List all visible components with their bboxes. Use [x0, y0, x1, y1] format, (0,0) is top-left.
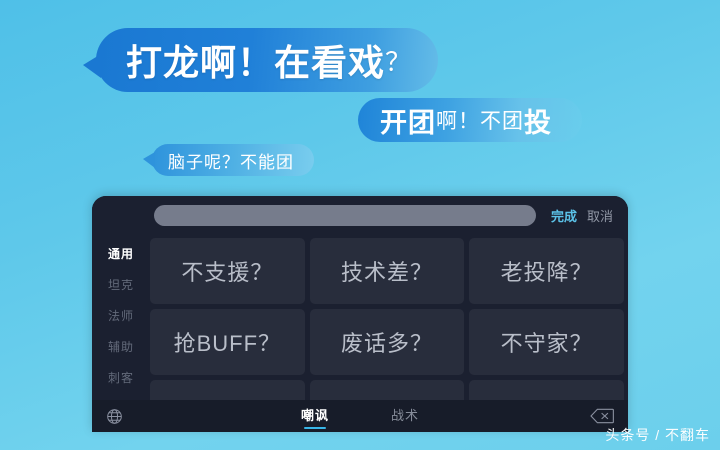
phrase-key-label: 老投降？ [501, 255, 593, 287]
speech-bubble-1-tail [83, 54, 101, 78]
tab-tactics[interactable]: 战术 [391, 405, 419, 428]
tab-taunt[interactable]: 嘲讽 [301, 405, 329, 428]
backspace-icon[interactable] [590, 408, 614, 424]
tab-label: 战术 [391, 408, 419, 423]
phrase-key[interactable]: 技术差？ [310, 238, 465, 304]
sidebar-item-label: 通用 [108, 245, 134, 262]
sidebar-item-label: 刺客 [108, 369, 134, 386]
cancel-button[interactable]: 取消 [582, 206, 618, 225]
phrase-key-label: 不守家？ [501, 326, 593, 358]
sidebar-item-assassin[interactable]: 刺客 [92, 362, 150, 393]
speech-bubble-2-text-tail: 投 [524, 101, 552, 140]
speech-bubble-1: 打龙啊！在看戏？ [96, 28, 438, 92]
sidebar-item-support[interactable]: 辅助 [92, 331, 150, 362]
phrase-key-label: 抢BUFF？ [174, 326, 281, 358]
sidebar-item-label: 法师 [108, 307, 134, 324]
phrase-key-label: 废话多？ [341, 326, 433, 358]
globe-icon[interactable] [106, 408, 123, 425]
phrase-key-label: 技术差？ [341, 255, 433, 287]
speech-bubble-3-tail [143, 152, 155, 168]
phrase-key[interactable]: 抢BUFF？ [150, 309, 305, 375]
category-sidebar: 通用 坦克 法师 辅助 刺客 射手 [92, 234, 150, 400]
speech-bubble-1-body: 打龙啊！在看戏？ [96, 28, 438, 92]
speech-bubble-3: 脑子呢？不能团 [152, 144, 314, 176]
screenshot-root: 打龙啊！在看戏？ 开团啊！不团投 脑子呢？不能团 完成 取消 通用 坦克 [0, 0, 720, 450]
phrase-key[interactable] [469, 380, 624, 400]
panel-body: 通用 坦克 法师 辅助 刺客 射手 不支援？ [92, 234, 628, 400]
speech-bubble-3-body: 脑子呢？不能团 [152, 144, 314, 176]
speech-bubble-3-text: 脑子呢？不能团 [168, 148, 294, 173]
phrase-key-label: 不支援？ [181, 255, 273, 287]
watermark: 头条号 / 不翻车 [605, 425, 710, 445]
sidebar-item-mage[interactable]: 法师 [92, 300, 150, 331]
phrase-key[interactable]: 废话多？ [310, 309, 465, 375]
panel-bottom-bar: 嘲讽 战术 [92, 400, 628, 432]
phrase-key[interactable] [150, 380, 305, 400]
speech-bubble-2-text-mid: 啊！不团 [436, 105, 524, 135]
phrase-grid: 不支援？ 技术差？ 老投降？ 抢BUFF？ 废话多？ 不守家？ [150, 234, 628, 400]
sidebar-item-tank[interactable]: 坦克 [92, 269, 150, 300]
speech-bubble-2-text-lead: 开团 [380, 101, 436, 140]
sidebar-item-general[interactable]: 通用 [92, 238, 150, 269]
speech-bubble-2-body: 开团啊！不团投 [358, 98, 582, 142]
phrase-key[interactable]: 老投降？ [469, 238, 624, 304]
tab-label: 嘲讽 [301, 408, 329, 423]
phrase-key[interactable]: 不支援？ [150, 238, 305, 304]
panel-top-bar: 完成 取消 [92, 196, 628, 234]
speech-bubble-1-text: 打龙啊！在看戏 [126, 34, 385, 86]
quick-chat-panel: 完成 取消 通用 坦克 法师 辅助 刺客 [92, 196, 628, 432]
confirm-button[interactable]: 完成 [546, 206, 582, 225]
sidebar-item-label: 坦克 [108, 276, 134, 293]
bottom-tab-group: 嘲讽 战术 [92, 405, 628, 428]
phrase-key[interactable]: 不守家？ [469, 309, 624, 375]
sidebar-item-label: 辅助 [108, 338, 134, 355]
speech-bubble-2: 开团啊！不团投 [358, 98, 582, 142]
speech-bubble-1-text-small: ？ [385, 42, 412, 79]
phrase-key[interactable] [310, 380, 465, 400]
search-input[interactable] [154, 205, 536, 226]
